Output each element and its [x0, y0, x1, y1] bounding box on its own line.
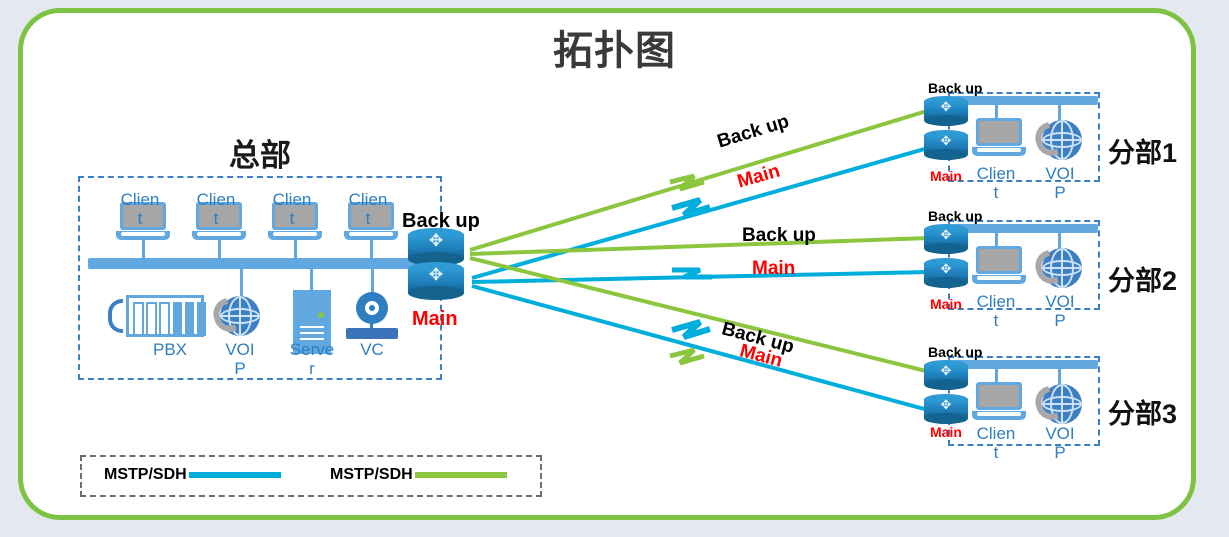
hq-client-1-link: [142, 240, 145, 260]
legend-swatch-backup: [415, 472, 507, 478]
branch-3-client-link: [995, 364, 998, 382]
branch-3-backup-label: Back up: [928, 344, 982, 360]
link-label-main-branch2: Main: [752, 258, 795, 280]
legend-label-backup: MSTP/SDH: [330, 466, 413, 484]
topology-diagram: 拓扑图 Back up Main Back up Main Back up Ma…: [0, 0, 1229, 537]
laptop-icon[interactable]: [972, 246, 1026, 286]
hq-main-router-icon[interactable]: ✥: [408, 262, 464, 302]
branch-2-voip-label: VOIP: [1030, 292, 1090, 330]
branch-3-voip-label: VOIP: [1030, 424, 1090, 462]
branch-2-backup-label: Back up: [928, 208, 982, 224]
hq-main-router-label: Main: [412, 308, 458, 331]
hq-client-3-label: Clien t: [262, 190, 322, 228]
branch-3-main-router-icon[interactable]: ✥: [924, 394, 968, 426]
legend-item-backup: MSTP/SDH: [330, 466, 507, 484]
branch-1-bus-bar: [952, 96, 1098, 105]
branch-2-client-label: Client: [966, 292, 1026, 330]
hq-client-3-link: [294, 240, 297, 260]
hq-client-4-link: [370, 240, 373, 260]
hq-server-label: Serve r: [282, 340, 342, 378]
legend: MSTP/SDH MSTP/SDH: [80, 455, 542, 497]
branch-1-backup-router-icon[interactable]: ✥: [924, 96, 968, 128]
branch-2-client-link: [995, 228, 998, 246]
branch-1-voip-link: [1058, 100, 1061, 122]
legend-swatch-main: [189, 472, 281, 478]
hq-voip-label: VOI P: [210, 340, 270, 378]
legend-item-main: MSTP/SDH: [104, 466, 281, 484]
branch-1-client-link: [995, 100, 998, 118]
branch-2-main-label: Main: [930, 296, 962, 312]
branch-1-voip-label: VOIP: [1030, 164, 1090, 202]
branch-2-bus-bar: [952, 224, 1098, 233]
branch-3-voip-link: [1058, 364, 1061, 386]
hq-pbx-label: PBX: [140, 340, 200, 359]
hq-title: 总部: [180, 130, 340, 175]
globe-voip-icon[interactable]: [1036, 248, 1082, 294]
video-camera-icon: [346, 292, 398, 342]
globe-voip-icon[interactable]: [1036, 120, 1082, 166]
branch-1-main-label: Main: [930, 168, 962, 184]
branch-3-bus-bar: [952, 360, 1098, 369]
branch-1-title: 分部1: [1108, 131, 1177, 170]
pbx-icon: [108, 295, 204, 337]
branch-2-title: 分部2: [1108, 259, 1177, 298]
hq-client-1-label: Clien t: [110, 190, 170, 228]
branch-3-title: 分部3: [1108, 392, 1177, 431]
globe-voip-icon: [214, 296, 260, 342]
branch-1-backup-label: Back up: [928, 80, 982, 96]
hq-server-link: [310, 268, 313, 290]
hq-voip-link: [240, 268, 243, 298]
branch-2-backup-router-icon[interactable]: ✥: [924, 224, 968, 256]
hq-client-4-label: Clien t: [338, 190, 398, 228]
branch-3-backup-router-icon[interactable]: ✥: [924, 360, 968, 392]
branch-1-main-router-icon[interactable]: ✥: [924, 130, 968, 162]
laptop-icon[interactable]: [972, 118, 1026, 158]
laptop-icon[interactable]: [972, 382, 1026, 422]
hq-client-2-label: Clien t: [186, 190, 246, 228]
branch-2-voip-link: [1058, 228, 1061, 250]
branch-2-main-router-icon[interactable]: ✥: [924, 258, 968, 290]
branch-3-main-label: Main: [930, 424, 962, 440]
hq-bus-bar: [88, 258, 434, 269]
link-label-backup-branch2: Back up: [742, 225, 816, 247]
hq-vc-label: VC: [342, 340, 402, 359]
hq-client-2-link: [218, 240, 221, 260]
legend-label-main: MSTP/SDH: [104, 466, 187, 484]
branch-1-client-label: Client: [966, 164, 1026, 202]
branch-3-client-label: Client: [966, 424, 1026, 462]
page-title: 拓扑图: [0, 18, 1229, 76]
